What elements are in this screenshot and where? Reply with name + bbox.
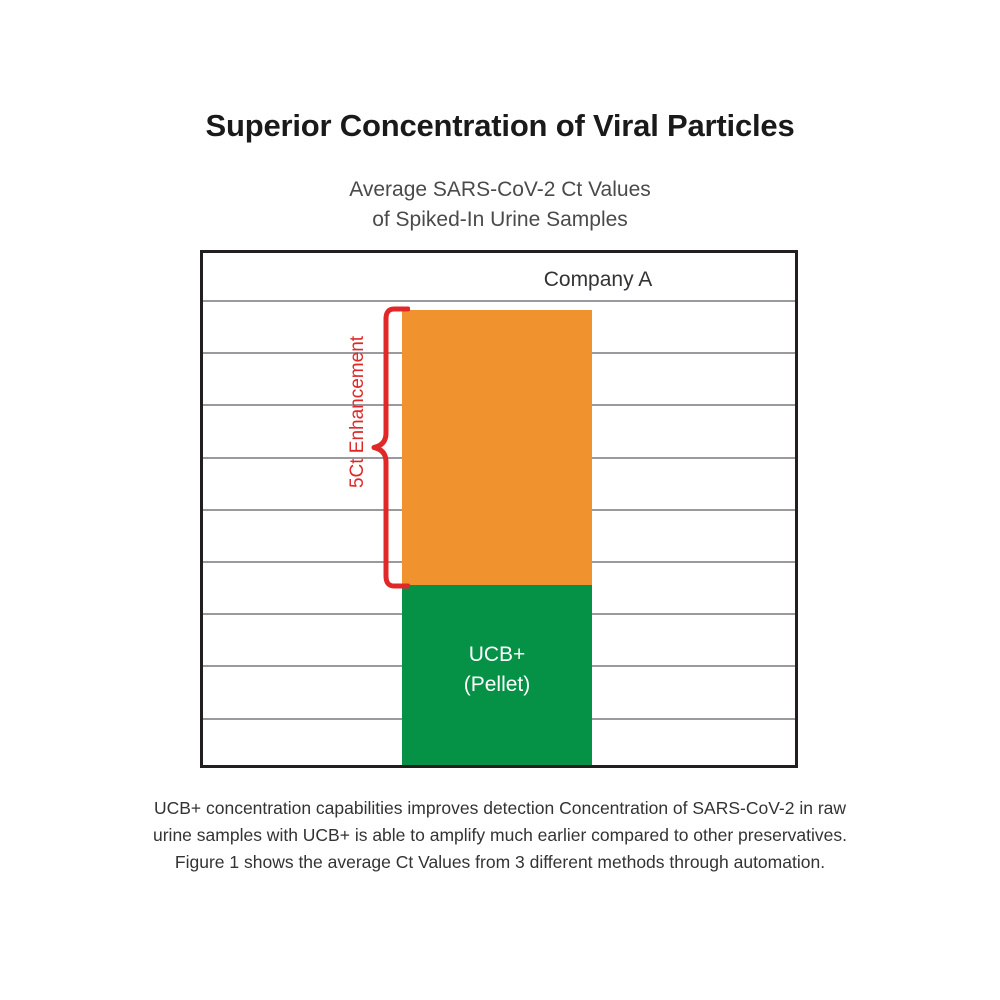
figure-subtitle: Average SARS-CoV-2 Ct Values of Spiked-I…	[0, 175, 1000, 235]
figure-caption: UCB+ concentration capabilities improves…	[95, 795, 905, 876]
bar-segment-ucb-pellet: UCB+ (Pellet)	[402, 585, 592, 765]
stacked-bar-company-a: UCB+ (Pellet)	[402, 310, 592, 765]
gridline	[203, 300, 795, 302]
series-label-company-a: Company A	[503, 268, 693, 292]
enhancement-label: 5Ct Enhancement	[347, 312, 369, 512]
enhancement-annotation: 5Ct Enhancement	[320, 305, 410, 590]
bar-segment-company-a	[402, 310, 592, 585]
chart-plot-area: Company A UCB+ (Pellet)	[200, 250, 798, 768]
bar-segment-ucb-label-line1: UCB+	[469, 640, 526, 670]
bar-segment-ucb-label-line2: (Pellet)	[464, 670, 531, 700]
page-title: Superior Concentration of Viral Particle…	[0, 108, 1000, 144]
curly-brace-icon	[364, 305, 410, 590]
